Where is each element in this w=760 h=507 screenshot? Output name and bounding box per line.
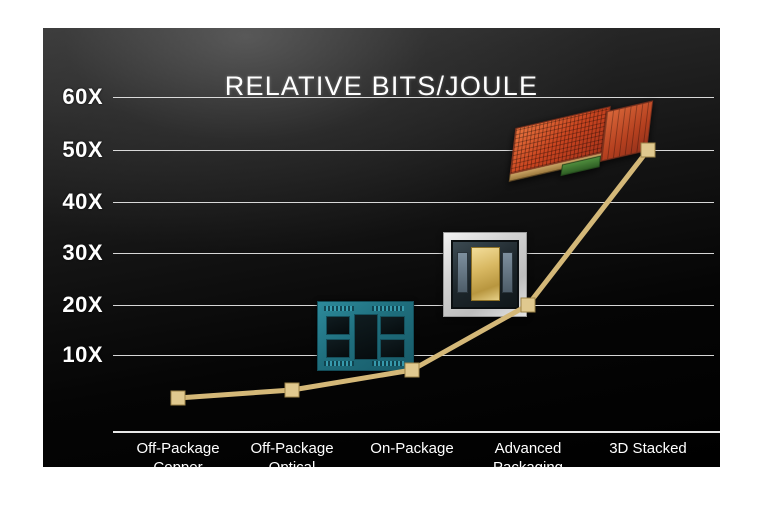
data-point-on-package[interactable] xyxy=(405,363,419,377)
y-tick-50x: 50X xyxy=(43,137,103,163)
data-series-line xyxy=(113,97,720,433)
data-point-off-package-copper[interactable] xyxy=(171,391,185,405)
x-tick-3d-stacked: 3D Stacked xyxy=(573,439,720,458)
y-tick-40x: 40X xyxy=(43,189,103,215)
data-point-off-package-optical[interactable] xyxy=(285,383,299,397)
y-tick-60x: 60X xyxy=(43,84,103,110)
y-tick-30x: 30X xyxy=(43,240,103,266)
data-point-3d-stacked[interactable] xyxy=(641,143,655,157)
y-tick-20x: 20X xyxy=(43,292,103,318)
plot-area xyxy=(113,97,720,433)
y-tick-10x: 10X xyxy=(43,342,103,368)
chart-screenshot: RELATIVE BITS/JOULE 60X 50X 40X 30X 20X … xyxy=(0,0,760,507)
data-point-advanced-packaging[interactable] xyxy=(521,298,535,312)
chart-panel: RELATIVE BITS/JOULE 60X 50X 40X 30X 20X … xyxy=(43,28,720,467)
series-polyline xyxy=(178,150,648,398)
